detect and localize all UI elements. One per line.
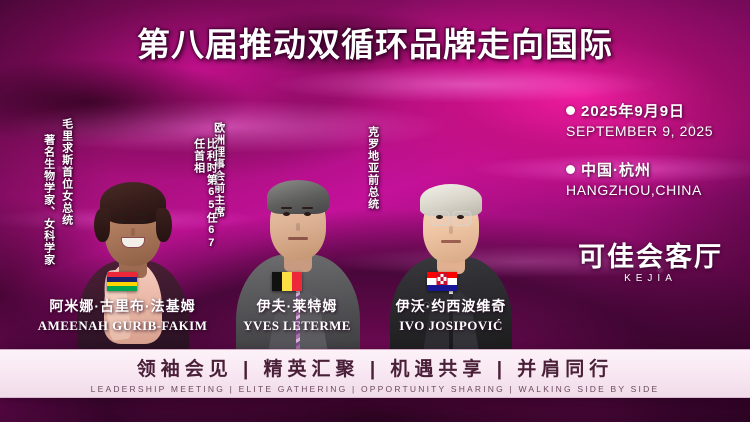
portrait-mouth-3 bbox=[441, 240, 461, 243]
portrait-eye-left-3 bbox=[436, 215, 443, 219]
portrait-eye-left-2 bbox=[283, 212, 290, 216]
portrait-hair-side-right-1 bbox=[156, 208, 172, 242]
glasses-bridge bbox=[448, 217, 455, 218]
kejia-logo: 可佳会客厅 KEJIA bbox=[578, 244, 723, 284]
bullet-dot-icon-date bbox=[566, 106, 575, 115]
portrait-nose-1 bbox=[131, 228, 135, 236]
poster-title: 第八届推动双循环品牌走向国际 bbox=[0, 18, 750, 66]
portrait-brow-right-2 bbox=[302, 207, 313, 209]
bullet-dot-icon-location bbox=[566, 165, 575, 174]
event-poster: 第八届推动双循环品牌走向国际 毛里求斯首位女总统 著名生 bbox=[0, 0, 750, 422]
portrait-brow-right-1 bbox=[136, 214, 147, 216]
speaker-name-block-2: 伊夫·莱特姆 YVES LETERME bbox=[213, 296, 381, 334]
speaker-name-cn-1: 阿米娜·古里布·法基姆 bbox=[10, 296, 235, 316]
speaker-portrait-3 bbox=[392, 169, 510, 364]
slogan-banner: 领袖会见 | 精英汇聚 | 机遇共享 | 并肩同行 LEADERSHIP MEE… bbox=[0, 349, 750, 398]
speaker-role-3-line-1: 克罗地亚前总统 bbox=[366, 126, 379, 226]
speaker-name-en-3: IVO JOSIPOVIĆ bbox=[362, 318, 540, 334]
slogan-cn: 领袖会见 | 精英汇聚 | 机遇共享 | 并肩同行 bbox=[137, 354, 614, 381]
event-info-panel: 2025年9月9日 SEPTEMBER 9, 2025 中国·杭州 HANGZH… bbox=[566, 100, 746, 202]
info-spacer bbox=[566, 143, 746, 159]
portrait-brow-left-1 bbox=[116, 214, 127, 216]
portrait-brow-left-2 bbox=[281, 207, 292, 209]
portrait-smile-1 bbox=[121, 237, 145, 248]
portrait-nose-2 bbox=[296, 223, 300, 231]
portrait-nose-3 bbox=[449, 226, 453, 234]
mauritius-flag bbox=[107, 272, 137, 291]
event-date-cn-row: 2025年9月9日 bbox=[566, 100, 746, 121]
speaker-name-en-2: YVES LETERME bbox=[213, 318, 381, 334]
event-location-cn: 中国·杭州 bbox=[581, 159, 651, 180]
portrait-eye-right-1 bbox=[139, 219, 146, 223]
speaker-name-cn-3: 伊沃·约西波维奇 bbox=[362, 296, 540, 316]
logo-name-en: KEJIA bbox=[578, 273, 723, 284]
slogan-en: LEADERSHIP MEETING | ELITE GATHERING | O… bbox=[91, 384, 660, 394]
event-location-en: HANGZHOU,CHINA bbox=[566, 182, 746, 198]
portrait-mouth-2 bbox=[288, 237, 308, 240]
speaker-portrait-1 bbox=[78, 174, 188, 364]
belgium-flag bbox=[272, 272, 302, 291]
logo-name-cn: 可佳会客厅 bbox=[578, 244, 723, 271]
portrait-eye-right-3 bbox=[457, 215, 464, 219]
speaker-portrait-2 bbox=[238, 164, 358, 364]
speaker-role-2-line-2: 比利时第65任67任首相 bbox=[192, 138, 217, 258]
croatia-coat-of-arms bbox=[437, 273, 448, 285]
speaker-role-1-line-1: 毛里求斯首位女总统 bbox=[60, 118, 73, 238]
event-date-row: 2025年9月9日 SEPTEMBER 9, 2025 bbox=[566, 100, 746, 139]
event-date-cn: 2025年9月9日 bbox=[581, 100, 685, 121]
speaker-name-block-3: 伊沃·约西波维奇 IVO JOSIPOVIĆ bbox=[362, 296, 540, 334]
event-location-row: 中国·杭州 HANGZHOU,CHINA bbox=[566, 159, 746, 198]
event-location-cn-row: 中国·杭州 bbox=[566, 159, 746, 180]
speaker-name-block-1: 阿米娜·古里布·法基姆 AMEENAH GURIB-FAKIM bbox=[10, 296, 235, 334]
portrait-eye-right-2 bbox=[304, 212, 311, 216]
speaker-name-en-1: AMEENAH GURIB-FAKIM bbox=[10, 318, 235, 334]
event-date-en: SEPTEMBER 9, 2025 bbox=[566, 123, 746, 139]
portrait-eye-left-1 bbox=[118, 219, 125, 223]
portrait-hair-side-1 bbox=[94, 208, 110, 242]
speaker-role-1-line-2: 著名生物学家、女科学家 bbox=[42, 134, 55, 266]
croatia-flag bbox=[427, 272, 457, 291]
portrait-hair-2 bbox=[267, 180, 329, 214]
speaker-name-cn-2: 伊夫·莱特姆 bbox=[213, 296, 381, 316]
